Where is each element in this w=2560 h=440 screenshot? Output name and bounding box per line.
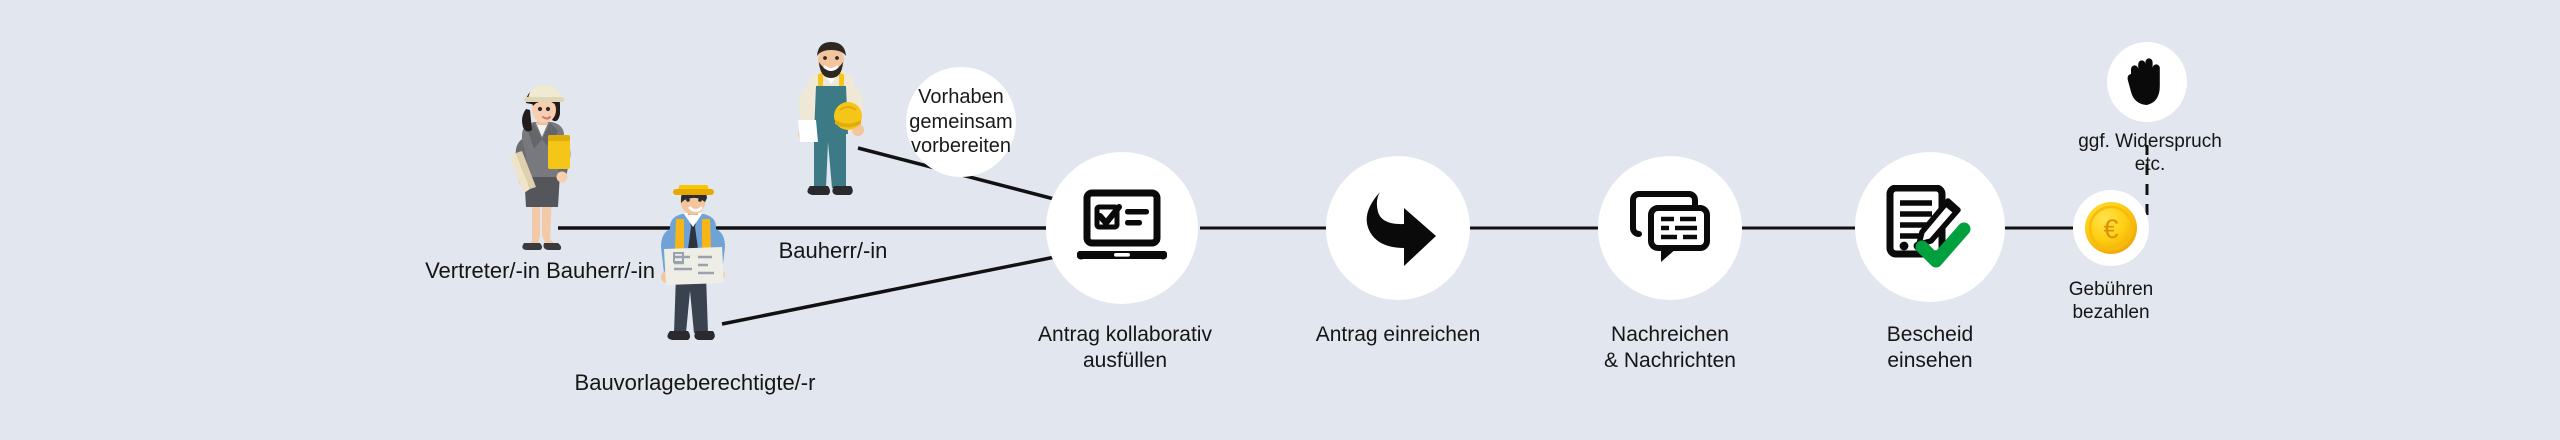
step-label-antrag-ausfuellen: Antrag kollaborativ ausfüllen [1000,322,1250,373]
step-node-gebuehren[interactable]: € [2073,190,2149,266]
step-node-nachreichen[interactable] [1598,156,1742,300]
step-node-antrag-einreichen[interactable] [1326,156,1470,300]
laptop-checklist-icon [1077,189,1167,267]
process-diagram: Vertreter/-in Bauherr/-in [0,0,2560,440]
step-node-widerspruch[interactable] [2107,42,2187,122]
actor-label-bauvorlageberechtigte: Bauvorlageberechtigte/-r [545,370,845,397]
line-bauvorlage-to-ausfuellen [722,256,1060,324]
stop-hand-icon [2123,56,2171,108]
step-node-bescheid[interactable] [1855,152,2005,302]
bubble-vorhaben-vorbereiten: Vorhaben gemeinsam vorbereiten [906,67,1016,177]
svg-text:€: € [2103,214,2118,244]
bubble-vorhaben-label: Vorhaben gemeinsam vorbereiten [909,85,1012,158]
step-label-widerspruch: ggf. Widerspruch etc. [2032,130,2268,176]
step-label-nachreichen: Nachreichen & Nachrichten [1545,322,1795,373]
signed-document-check-icon [1884,185,1976,269]
actor-bauherr-figure [778,42,888,207]
step-node-antrag-ausfuellen[interactable] [1046,152,1198,304]
step-label-antrag-einreichen: Antrag einreichen [1273,322,1523,348]
curved-arrow-right-icon [1354,188,1442,268]
actor-bauvorlageberechtigte-figure [640,185,750,355]
chat-messages-icon [1627,188,1713,268]
euro-coin-icon: € [2083,200,2139,256]
actor-vertreter-figure [480,85,600,255]
step-label-gebuehren: Gebühren bezahlen [1993,278,2229,324]
step-label-bescheid: Bescheid einsehen [1805,322,2055,373]
